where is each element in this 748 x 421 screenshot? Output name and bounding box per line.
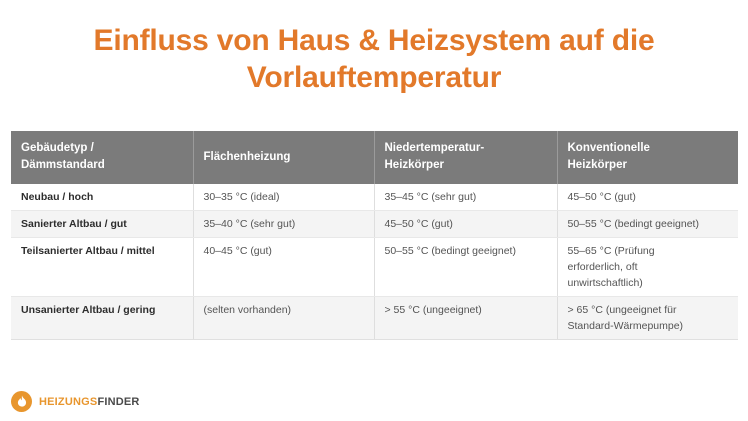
cell-unsanierter-konventionell-line-1: > 65 °C (ungeeignet für: [568, 302, 729, 318]
cell-teilsanierter-niedertemperatur: 50–55 °C (bedingt geeignet): [374, 238, 557, 297]
column-header-gebaeudetyp: Gebäudetyp / Dämmstandard: [11, 131, 193, 184]
cell-teilsanierter-flaechenheizung: 40–45 °C (gut): [193, 238, 374, 297]
column-header-flaechenheizung: Flächenheizung: [193, 131, 374, 184]
column-header-niedertemperatur-line-2: Heizkörper: [385, 157, 547, 174]
table-row: Neubau / hoch 30–35 °C (ideal) 35–45 °C …: [11, 184, 738, 211]
cell-sanierter-konventionell-line-1: 50–55 °C (bedingt geeignet): [568, 216, 729, 232]
cell-unsanierter-niedertemperatur: > 55 °C (ungeeignet): [374, 297, 557, 340]
row-label-sanierter-altbau: Sanierter Altbau / gut: [11, 211, 193, 238]
cell-teilsanierter-konventionell: 55–65 °C (Prüfung erforderlich, oft unwi…: [557, 238, 738, 297]
cell-teilsanierter-konventionell-line-2: erforderlich, oft: [568, 259, 729, 275]
cell-sanierter-niedertemperatur: 45–50 °C (gut): [374, 211, 557, 238]
brand-logo-text-secondary: FINDER: [97, 396, 139, 408]
column-header-gebaeudetyp-line-1: Gebäudetyp /: [21, 140, 183, 157]
row-label-teilsanierter-altbau: Teilsanierter Altbau / mittel: [11, 238, 193, 297]
cell-teilsanierter-konventionell-line-3: unwirtschaftlich): [568, 275, 729, 291]
page-title: Einfluss von Haus & Heizsystem auf die V…: [0, 0, 748, 96]
cell-sanierter-konventionell: 50–55 °C (bedingt geeignet): [557, 211, 738, 238]
table-header: Gebäudetyp / Dämmstandard Flächenheizung…: [11, 131, 738, 184]
column-header-gebaeudetyp-line-2: Dämmstandard: [21, 157, 183, 174]
row-label-unsanierter-altbau: Unsanierter Altbau / gering: [11, 297, 193, 340]
cell-sanierter-flaechenheizung: 35–40 °C (sehr gut): [193, 211, 374, 238]
page-title-line-1: Einfluss von Haus & Heizsystem auf die: [52, 22, 696, 59]
cell-teilsanierter-konventionell-line-1: 55–65 °C (Prüfung: [568, 243, 729, 259]
cell-neubau-flaechenheizung: 30–35 °C (ideal): [193, 184, 374, 211]
column-header-konventionelle-line-1: Konventionelle: [568, 140, 729, 157]
brand-logo-text-primary: HEIZUNGS: [39, 396, 97, 408]
row-label-neubau: Neubau / hoch: [11, 184, 193, 211]
cell-unsanierter-konventionell-line-2: Standard-Wärmepumpe): [568, 318, 729, 334]
brand-logo: HEIZUNGSFINDER: [11, 391, 140, 412]
cell-unsanierter-flaechenheizung: (selten vorhanden): [193, 297, 374, 340]
column-header-flaechenheizung-line-1: Flächenheizung: [204, 149, 364, 166]
cell-neubau-niedertemperatur: 35–45 °C (sehr gut): [374, 184, 557, 211]
column-header-niedertemperatur-heizkoerper: Niedertemperatur- Heizkörper: [374, 131, 557, 184]
comparison-table: Gebäudetyp / Dämmstandard Flächenheizung…: [11, 131, 738, 340]
table-row: Sanierter Altbau / gut 35–40 °C (sehr gu…: [11, 211, 738, 238]
table-row: Unsanierter Altbau / gering (selten vorh…: [11, 297, 738, 340]
column-header-konventionelle-heizkoerper: Konventionelle Heizkörper: [557, 131, 738, 184]
table-row: Teilsanierter Altbau / mittel 40–45 °C (…: [11, 238, 738, 297]
page-title-line-2: Vorlauftemperatur: [52, 59, 696, 96]
column-header-niedertemperatur-line-1: Niedertemperatur-: [385, 140, 547, 157]
flame-icon: [11, 391, 32, 412]
slide-canvas: Einfluss von Haus & Heizsystem auf die V…: [0, 0, 748, 421]
column-header-konventionelle-line-2: Heizkörper: [568, 157, 729, 174]
cell-neubau-konventionell: 45–50 °C (gut): [557, 184, 738, 211]
cell-unsanierter-konventionell: > 65 °C (ungeeignet für Standard-Wärmepu…: [557, 297, 738, 340]
cell-neubau-konventionell-line-1: 45–50 °C (gut): [568, 189, 729, 205]
table-body: Neubau / hoch 30–35 °C (ideal) 35–45 °C …: [11, 184, 738, 340]
table-header-row: Gebäudetyp / Dämmstandard Flächenheizung…: [11, 131, 738, 184]
brand-logo-text: HEIZUNGSFINDER: [39, 396, 140, 408]
comparison-table-container: Gebäudetyp / Dämmstandard Flächenheizung…: [11, 131, 738, 340]
